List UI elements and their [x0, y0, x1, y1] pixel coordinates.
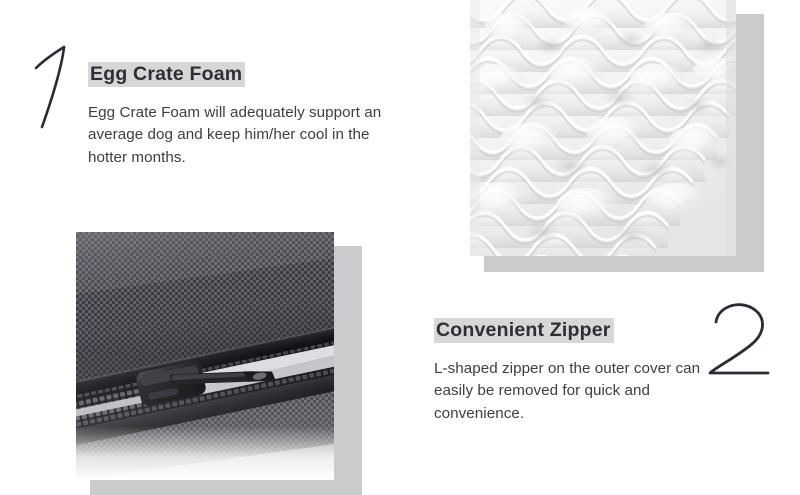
feature-heading-convenient-zipper: Convenient Zipper	[434, 318, 614, 343]
feature-block-egg-crate-foam: Egg Crate Foam Egg Crate Foam will adequ…	[88, 64, 398, 169]
numeral-one-marker	[26, 44, 82, 130]
zipper-closeup-photo	[76, 232, 334, 480]
product-feature-infographic: Egg Crate Foam Egg Crate Foam will adequ…	[0, 0, 800, 495]
heading-wrap-zipper: Convenient Zipper	[434, 320, 734, 341]
feature-block-convenient-zipper: Convenient Zipper L-shaped zipper on the…	[434, 320, 734, 425]
feature-heading-egg-crate-foam: Egg Crate Foam	[88, 62, 245, 87]
heading-wrap-foam: Egg Crate Foam	[88, 64, 398, 85]
feature-body-convenient-zipper: L-shaped zipper on the outer cover can e…	[434, 358, 734, 425]
egg-crate-foam-photo	[470, 0, 736, 256]
photo-frame-egg-crate-foam	[462, 0, 752, 272]
photo-frame-convenient-zipper	[62, 222, 362, 495]
feature-body-egg-crate-foam: Egg Crate Foam will adequately support a…	[88, 102, 398, 169]
